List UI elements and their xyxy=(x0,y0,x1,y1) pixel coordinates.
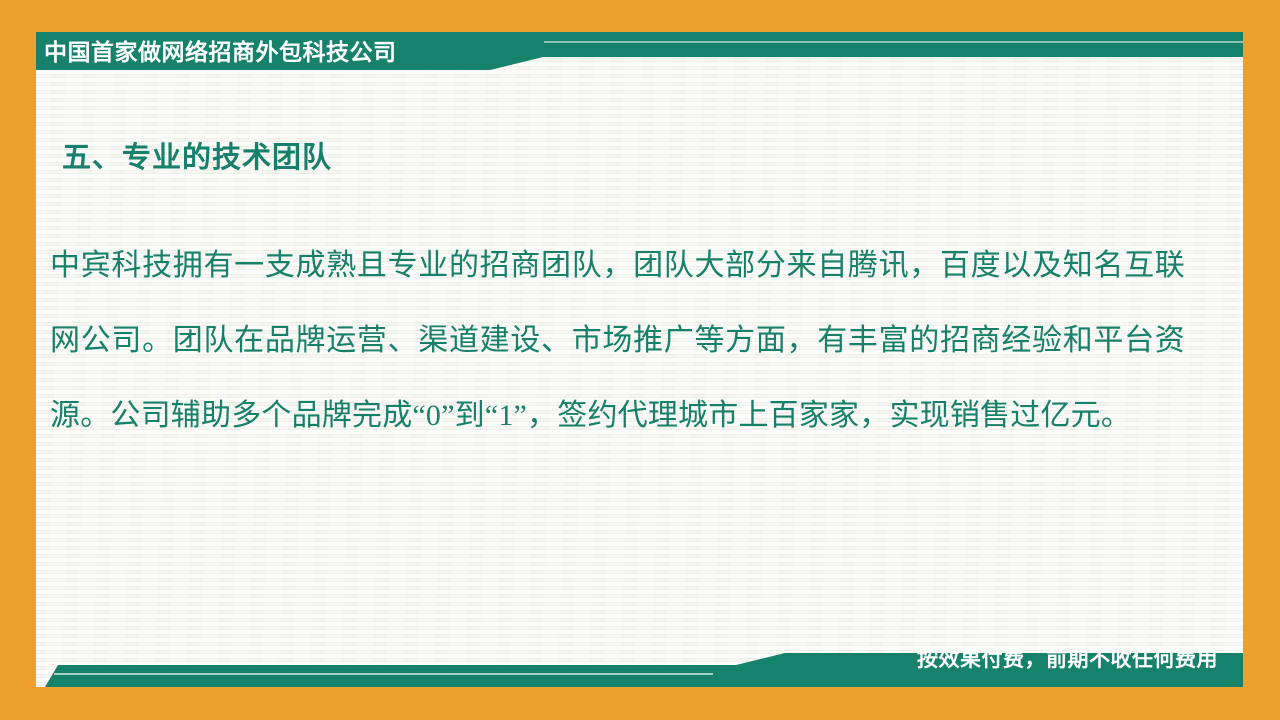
slide: 中国首家做网络招商外包科技公司 五、专业的技术团队 中宾科技拥有一支成熟且专业的… xyxy=(0,0,1280,720)
header-title: 中国首家做网络招商外包科技公司 xyxy=(44,36,397,68)
footer-hairline xyxy=(54,673,713,675)
body-paragraph: 中宾科技拥有一支成熟且专业的招商团队，团队大部分来自腾讯，百度以及知名互联网公司… xyxy=(50,228,1185,453)
header-hairline xyxy=(544,41,1243,43)
footer-tagline: 按效果付费，前期不收任何费用 xyxy=(917,645,1218,675)
section-heading: 五、专业的技术团队 xyxy=(62,134,332,176)
